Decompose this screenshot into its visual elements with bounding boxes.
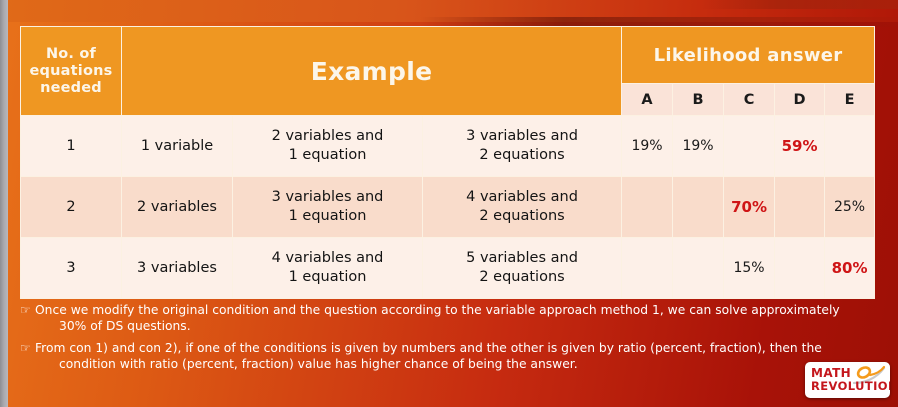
note-item-1: ☞ Once we modify the original condition … xyxy=(20,303,878,334)
row2-example-3: 4 variables and 2 equations xyxy=(423,177,622,238)
row2-answer-d xyxy=(775,177,825,238)
row3-example-2: 4 variables and 1 equation xyxy=(233,238,423,299)
row2-answer-c: 70% xyxy=(724,177,775,238)
row2-answer-a xyxy=(622,177,673,238)
row2-example-2: 3 variables and 1 equation xyxy=(233,177,423,238)
logo-text: MATH REVOLUTION xyxy=(811,367,890,393)
header-choice-a: A xyxy=(622,84,673,116)
row2-answer-e: 25% xyxy=(825,177,875,238)
table-row: 3 3 variables 4 variables and 1 equation… xyxy=(21,238,875,299)
row2-example-1: 2 variables xyxy=(122,177,233,238)
slide-root: No. of equations needed Example Likeliho… xyxy=(0,0,898,407)
header-no-of-equations-line3: needed xyxy=(21,80,121,97)
row3-answer-c: 15% xyxy=(724,238,775,299)
note-item-2-line1: From con 1) and con 2), if one of the co… xyxy=(35,341,878,357)
header-choice-e: E xyxy=(825,84,875,116)
row3-example-3: 5 variables and 2 equations xyxy=(423,238,622,299)
row3-example-2-line1: 4 variables and xyxy=(233,249,422,268)
note-item-1-line1: Once we modify the original condition an… xyxy=(35,303,878,319)
header-likelihood-answer: Likelihood answer xyxy=(622,27,875,84)
row1-answer-c xyxy=(724,116,775,177)
row3-no-of-equations: 3 xyxy=(21,238,122,299)
top-shadow-band-secondary xyxy=(700,0,898,9)
header-example: Example xyxy=(122,27,622,116)
row1-example-2: 2 variables and 1 equation xyxy=(233,116,423,177)
row1-example-3-line1: 3 variables and xyxy=(423,127,621,146)
header-choice-b: B xyxy=(673,84,724,116)
logo-text-line2: REVOLUTION xyxy=(811,380,890,393)
header-no-of-equations-line1: No. of xyxy=(21,46,121,63)
math-revolution-logo: MATH REVOLUTION xyxy=(805,362,890,398)
row1-answer-b: 19% xyxy=(673,116,724,177)
header-no-of-equations-line2: equations xyxy=(21,63,121,80)
header-choice-c: C xyxy=(724,84,775,116)
note-item-2-body: From con 1) and con 2), if one of the co… xyxy=(35,341,878,372)
row2-example-3-line1: 4 variables and xyxy=(423,188,621,207)
row3-answer-e: 80% xyxy=(825,238,875,299)
likelihood-table-wrapper: No. of equations needed Example Likeliho… xyxy=(20,26,874,299)
row3-answer-b xyxy=(673,238,724,299)
note-item-1-body: Once we modify the original condition an… xyxy=(35,303,878,334)
row2-answer-b xyxy=(673,177,724,238)
header-choice-d: D xyxy=(775,84,825,116)
table-header-row-primary: No. of equations needed Example Likeliho… xyxy=(21,27,875,84)
row1-example-2-line1: 2 variables and xyxy=(233,127,422,146)
note-item-1-line2: 30% of DS questions. xyxy=(35,319,878,335)
header-no-of-equations: No. of equations needed xyxy=(21,27,122,116)
row1-answer-e xyxy=(825,116,875,177)
row3-answer-a xyxy=(622,238,673,299)
row1-example-3: 3 variables and 2 equations xyxy=(423,116,622,177)
pointing-hand-icon: ☞ xyxy=(20,341,35,357)
row1-no-of-equations: 1 xyxy=(21,116,122,177)
row3-example-3-line1: 5 variables and xyxy=(423,249,621,268)
footer-notes: ☞ Once we modify the original condition … xyxy=(20,303,878,379)
row1-example-3-line2: 2 equations xyxy=(423,146,621,165)
table-row: 1 1 variable 2 variables and 1 equation … xyxy=(21,116,875,177)
row3-example-1: 3 variables xyxy=(122,238,233,299)
row1-answer-d: 59% xyxy=(775,116,825,177)
pointing-hand-icon: ☞ xyxy=(20,303,35,319)
row2-example-2-line1: 3 variables and xyxy=(233,188,422,207)
note-item-2: ☞ From con 1) and con 2), if one of the … xyxy=(20,341,878,372)
row1-answer-a: 19% xyxy=(622,116,673,177)
likelihood-table: No. of equations needed Example Likeliho… xyxy=(20,26,875,299)
note-item-2-line2: condition with ratio (percent, fraction)… xyxy=(35,357,878,373)
row1-example-1: 1 variable xyxy=(122,116,233,177)
row2-example-3-line2: 2 equations xyxy=(423,207,621,226)
table-row: 2 2 variables 3 variables and 1 equation… xyxy=(21,177,875,238)
row3-example-2-line2: 1 equation xyxy=(233,268,422,287)
left-edge-strip xyxy=(0,0,8,407)
row1-example-2-line2: 1 equation xyxy=(233,146,422,165)
row3-answer-d xyxy=(775,238,825,299)
row2-example-2-line2: 1 equation xyxy=(233,207,422,226)
row3-example-3-line2: 2 equations xyxy=(423,268,621,287)
row2-no-of-equations: 2 xyxy=(21,177,122,238)
